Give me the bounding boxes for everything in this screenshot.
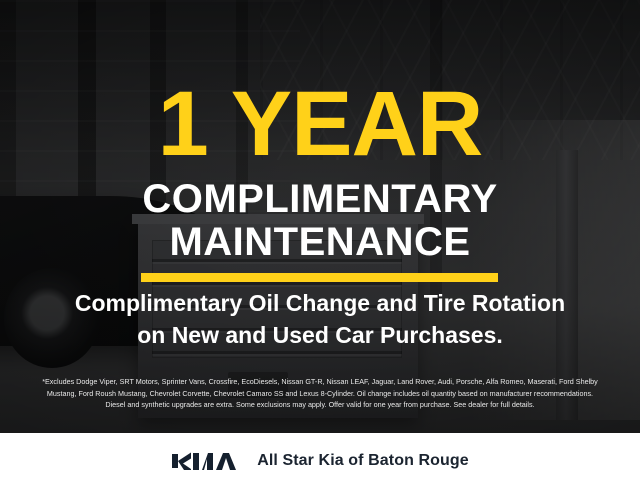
headline-complimentary: COMPLIMENTARY (0, 179, 640, 219)
disclaimer-line-1: *Excludes Dodge Viper, SRT Motors, Sprin… (14, 376, 626, 388)
offer-text-line-1: Complimentary Oil Change and Tire Rotati… (0, 292, 640, 315)
headline-year: 1 YEAR (0, 78, 640, 170)
disclaimer-text: *Excludes Dodge Viper, SRT Motors, Sprin… (14, 376, 626, 411)
dealer-name: All Star Kia of Baton Rouge (257, 452, 469, 470)
kia-logo-icon (171, 450, 239, 472)
disclaimer-line-3: Diesel and synthetic upgrades are extra.… (14, 399, 626, 411)
yellow-divider-bar (141, 273, 498, 282)
footer-bar: All Star Kia of Baton Rouge (0, 433, 640, 488)
promotional-banner: 1 YEAR COMPLIMENTARY MAINTENANCE Complim… (0, 0, 640, 488)
headline-maintenance: MAINTENANCE (0, 222, 640, 262)
offer-text-line-2: on New and Used Car Purchases. (0, 324, 640, 347)
banner-content: 1 YEAR COMPLIMENTARY MAINTENANCE Complim… (0, 0, 640, 488)
disclaimer-line-2: Mustang, Ford Roush Mustang, Chevrolet C… (14, 388, 626, 400)
